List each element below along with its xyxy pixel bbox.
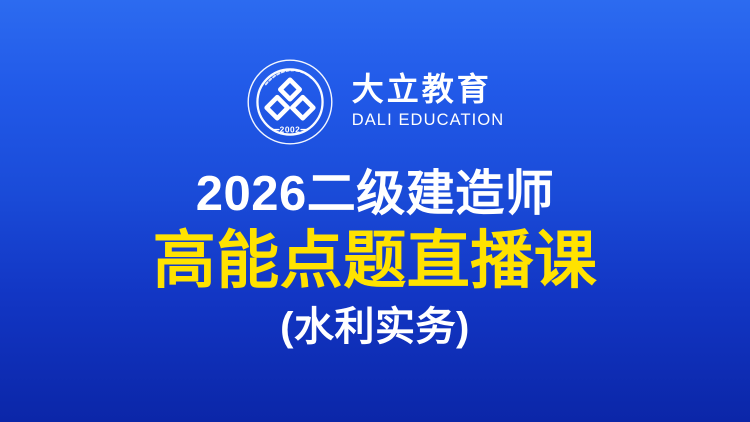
headline-line-2-highlight: 高能点题直播课 (153, 227, 598, 296)
headline-line-1: 2026二级建造师 (196, 168, 555, 221)
brand-wordmark: 大立教育 DALI EDUCATION (352, 72, 505, 133)
dali-circular-seal-emblem: 2002 (246, 58, 334, 146)
headline-block: 2026二级建造师 高能点题直播课 (水利实务) (0, 168, 750, 349)
brand-lockup: 2002 大立教育 DALI EDUCATION (246, 58, 505, 146)
brand-name-cn: 大立教育 (352, 72, 492, 108)
course-promo-poster: 2002 大立教育 DALI EDUCATION 2026二级建造师 高能点题直… (0, 0, 750, 422)
brand-name-en: DALI EDUCATION (352, 111, 505, 131)
headline-line-3-subject: (水利实务) (280, 305, 470, 349)
svg-text:2002: 2002 (279, 124, 300, 134)
